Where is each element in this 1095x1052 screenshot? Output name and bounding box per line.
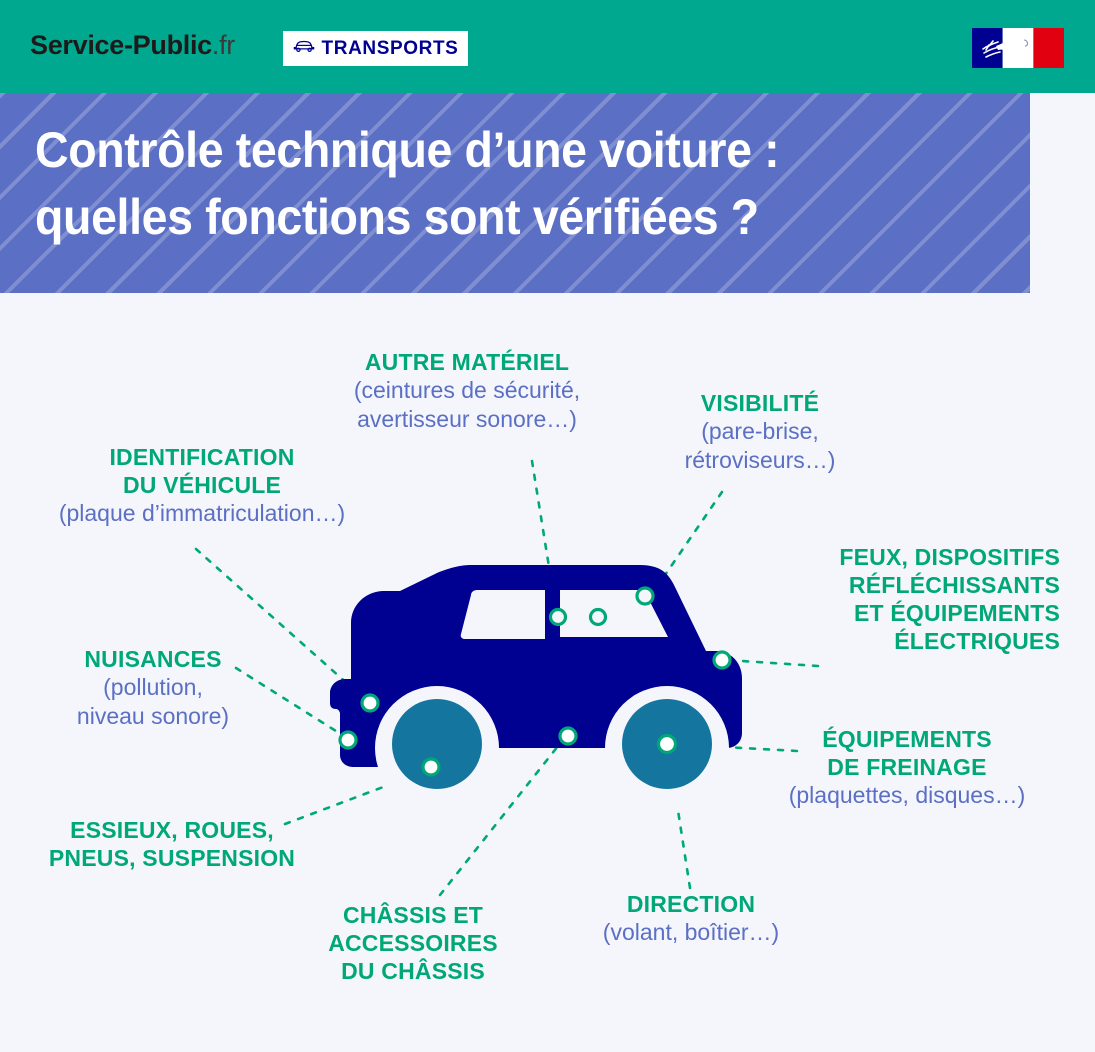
site-header: Service-Public.fr TRANSPORTS xyxy=(0,0,1095,93)
callout-subtitle-line: niveau sonore) xyxy=(44,702,262,731)
callout-subtitle-line: rétroviseurs…) xyxy=(653,446,867,475)
callout-title: DU CHÂSSIS xyxy=(302,957,524,985)
callout-subtitle-line: (pare-brise, xyxy=(653,417,867,446)
callout-title: RÉFLÉCHISSANTS xyxy=(758,571,1060,599)
callout-subtitle-line: (pollution, xyxy=(44,673,262,702)
brand-tld: .fr xyxy=(212,30,235,60)
infographic-page: Service-Public.fr TRANSPORTS xyxy=(0,0,1095,1052)
callout-title: ÉQUIPEMENTS xyxy=(762,725,1052,753)
callout-title: PNEUS, SUSPENSION xyxy=(28,844,316,872)
callout-title: ÉLECTRIQUES xyxy=(758,627,1060,655)
page-title: Contrôle technique d’une voiture : quell… xyxy=(35,117,928,250)
callout-title: FEUX, DISPOSITIFS xyxy=(758,543,1060,571)
category-badge-label: TRANSPORTS xyxy=(322,38,459,60)
infographic-stage: AUTRE MATÉRIEL (ceintures de sécurité, a… xyxy=(0,293,1095,1052)
callout-visibilite[interactable]: VISIBILITÉ (pare-brise, rétroviseurs…) xyxy=(653,389,867,475)
category-badge-transports[interactable]: TRANSPORTS xyxy=(283,31,468,66)
marker-autre-materiel-b xyxy=(591,610,606,625)
callout-title: ET ÉQUIPEMENTS xyxy=(758,599,1060,627)
callout-title: VISIBILITÉ xyxy=(653,389,867,417)
callout-subtitle-line: (volant, boîtier…) xyxy=(578,918,804,947)
callout-title: ESSIEUX, ROUES, xyxy=(28,816,316,844)
brand-name: Service-Public xyxy=(30,30,212,60)
page-title-line-2: quelles fonctions sont vérifiées ? xyxy=(35,184,928,251)
callout-identification-du-vehicule[interactable]: IDENTIFICATION DU VÉHICULE (plaque d’imm… xyxy=(26,443,378,528)
callout-essieux-roues-pneus-suspension[interactable]: ESSIEUX, ROUES, PNEUS, SUSPENSION xyxy=(28,816,316,872)
marker-essieux xyxy=(423,759,439,775)
callout-subtitle-line: (plaquettes, disques…) xyxy=(762,781,1052,810)
marker-visibilite xyxy=(637,588,653,604)
callout-nuisances[interactable]: NUISANCES (pollution, niveau sonore) xyxy=(44,645,262,731)
callout-subtitle-line: (plaque d’immatriculation…) xyxy=(26,499,378,528)
page-title-line-1: Contrôle technique d’une voiture : xyxy=(35,122,779,178)
marker-feux xyxy=(714,652,730,668)
site-brand[interactable]: Service-Public.fr xyxy=(30,30,235,61)
connector-feux xyxy=(727,660,818,666)
callout-subtitle-line: (ceintures de sécurité, xyxy=(333,376,601,405)
callout-equipements-de-freinage[interactable]: ÉQUIPEMENTS DE FREINAGE (plaquettes, dis… xyxy=(762,725,1052,810)
marker-identification xyxy=(362,695,378,711)
car-icon xyxy=(293,39,315,58)
marker-chassis xyxy=(560,728,576,744)
callout-title: IDENTIFICATION xyxy=(26,443,378,471)
marianne-french-republic-logo xyxy=(972,28,1064,68)
callout-title: DE FREINAGE xyxy=(762,753,1052,781)
callout-direction[interactable]: DIRECTION (volant, boîtier…) xyxy=(578,890,804,947)
callout-title: DIRECTION xyxy=(578,890,804,918)
callout-chassis-et-accessoires[interactable]: CHÂSSIS ET ACCESSOIRES DU CHÂSSIS xyxy=(302,901,524,985)
callout-title: NUISANCES xyxy=(44,645,262,673)
car-front-wheel xyxy=(392,699,482,789)
callout-title: CHÂSSIS ET xyxy=(302,901,524,929)
callout-subtitle-line: avertisseur sonore…) xyxy=(333,405,601,434)
callout-title: DU VÉHICULE xyxy=(26,471,378,499)
marker-autre-materiel-a xyxy=(551,610,566,625)
marker-nuisances xyxy=(340,732,356,748)
car-rear-window xyxy=(461,590,545,639)
callout-title: AUTRE MATÉRIEL xyxy=(333,348,601,376)
callout-autre-materiel[interactable]: AUTRE MATÉRIEL (ceintures de sécurité, a… xyxy=(333,348,601,434)
callout-title: ACCESSOIRES xyxy=(302,929,524,957)
marker-freinage xyxy=(659,736,676,753)
title-banner: Contrôle technique d’une voiture : quell… xyxy=(0,93,1030,293)
callout-feux-dispositifs[interactable]: FEUX, DISPOSITIFS RÉFLÉCHISSANTS ET ÉQUI… xyxy=(758,543,1060,655)
